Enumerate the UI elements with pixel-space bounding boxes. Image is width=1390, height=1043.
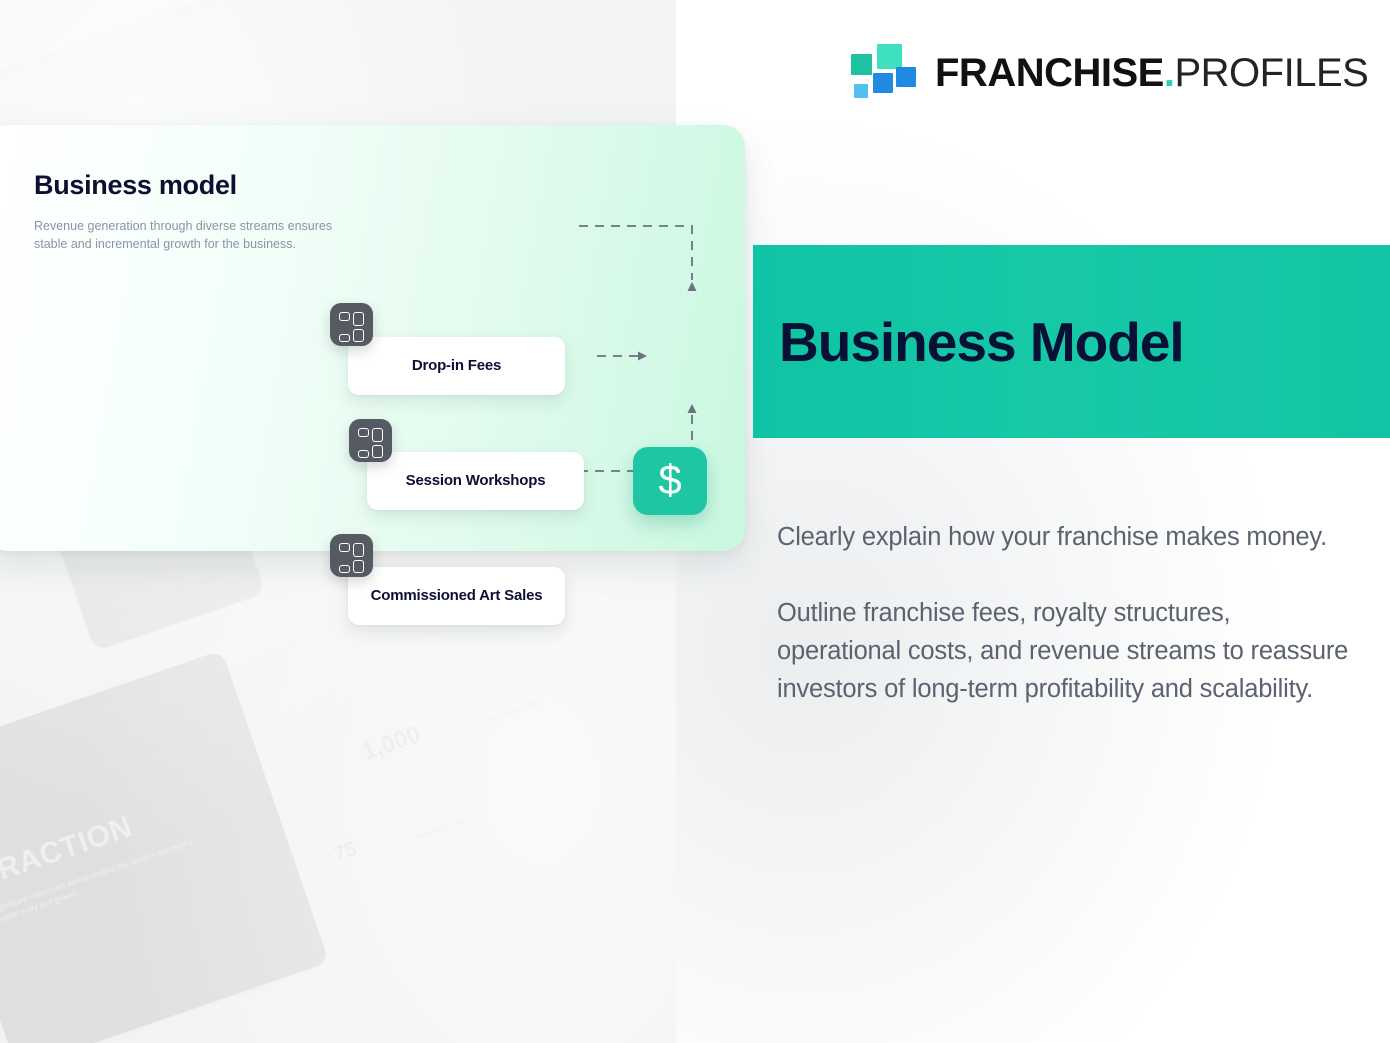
logo-square-blue-mid	[873, 73, 893, 93]
logo-square-teal-light	[877, 44, 902, 69]
mosaic-slide-pitchdeck: of pitch deck	[0, 0, 237, 139]
node-label: Session Workshops	[406, 471, 546, 491]
mosaic-slide-stats: 1,000 Monthly Visitors 75 Workshops Held	[292, 595, 676, 987]
mosaic-stat-label: Monthly Visitors	[483, 698, 539, 725]
dollar-sign-icon: $	[633, 447, 707, 515]
title-band: Business Model	[753, 245, 1390, 438]
revenue-node-drop-in-fees[interactable]: Drop-in Fees	[348, 337, 565, 395]
slide-canvas: MARKET spaces in urban and suburban area…	[0, 0, 1390, 1043]
brand-name-bold: FRANCHISE	[935, 51, 1164, 95]
brand-wordmark: FRANCHISE.PROFILES	[935, 53, 1368, 93]
body-paragraph-1: Clearly explain how your franchise makes…	[777, 518, 1355, 556]
grid-dashboard-icon	[330, 303, 373, 346]
dollar-symbol: $	[658, 459, 681, 501]
mosaic-bar	[0, 0, 116, 22]
node-label: Commissioned Art Sales	[371, 586, 543, 606]
five-squares-logo-mark-icon	[851, 44, 913, 102]
grid-dashboard-icon	[330, 534, 373, 577]
mosaic-stat-value: 75	[331, 838, 360, 867]
brand-name-light: PROFILES	[1174, 51, 1368, 95]
brand-logo[interactable]: FRANCHISE.PROFILES	[851, 44, 1368, 102]
logo-square-blue	[896, 67, 916, 87]
slide-card-heading: Business model	[34, 170, 334, 201]
mosaic-slide-traction: TRACTION Significant milestones demonstr…	[0, 650, 329, 1043]
page-title: Business Model	[779, 310, 1184, 374]
slide-card-text-block: Business model Revenue generation throug…	[34, 170, 334, 253]
body-paragraph-2: Outline franchise fees, royalty structur…	[777, 594, 1355, 708]
revenue-node-session-workshops[interactable]: Session Workshops	[367, 452, 584, 510]
revenue-node-commissioned-art-sales[interactable]: Commissioned Art Sales	[348, 567, 565, 625]
node-label: Drop-in Fees	[412, 356, 501, 376]
mosaic-stat-value: 1,000	[359, 721, 425, 767]
logo-square-blue-light	[854, 84, 868, 98]
grid-dashboard-icon	[349, 419, 392, 462]
body-copy: Clearly explain how your franchise makes…	[777, 518, 1355, 708]
brand-dot: .	[1164, 51, 1175, 95]
slide-card-subtext: Revenue generation through diverse strea…	[34, 218, 334, 253]
logo-square-teal-dark	[851, 54, 872, 75]
mosaic-stat-label: Workshops Held	[412, 815, 470, 843]
